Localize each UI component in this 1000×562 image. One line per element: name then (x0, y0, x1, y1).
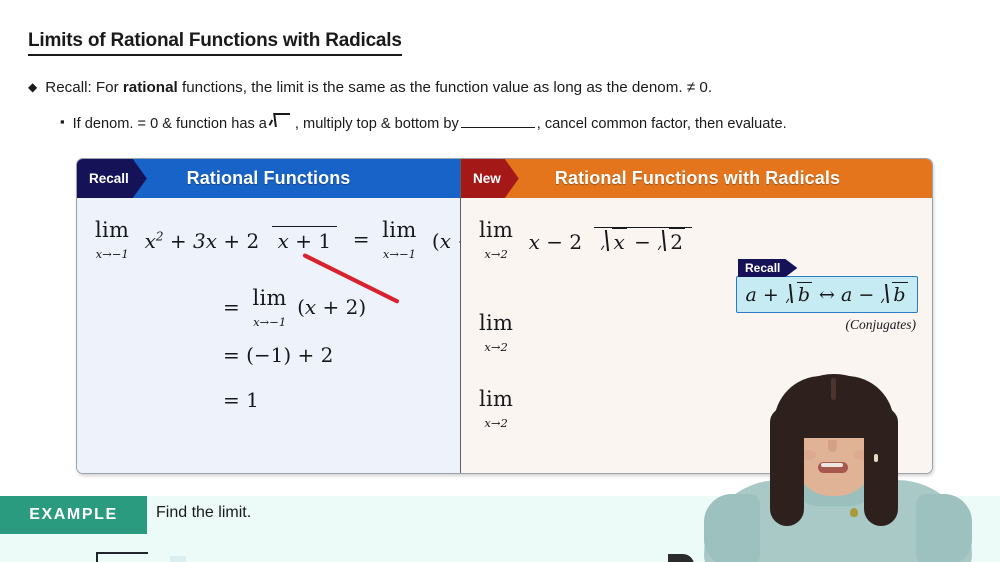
recall-callout-tag: Recall (738, 259, 797, 277)
recall-tag-badge: Recall (77, 159, 147, 198)
example-badge: EXAMPLE (0, 496, 147, 534)
equation-step-2: = lim x→−1 (x + 2) (223, 288, 366, 329)
recall-callout-formula: a + b ↔ a − b (736, 276, 918, 313)
limit-subscript-r1: x→2 (484, 247, 507, 261)
bullet-2-tail-text: , cancel common factor, then evaluate. (537, 116, 787, 132)
presenter-hair-strand-right (864, 408, 898, 526)
equals-sign-2: = (223, 295, 246, 319)
limit-operator-2: lim x→−1 (382, 220, 416, 261)
page-title: Limits of Rational Functions with Radica… (28, 30, 402, 56)
equation-step-4: = 1 (223, 388, 259, 412)
presenter-nose (828, 440, 837, 452)
limit-operator-1: lim x→−1 (95, 220, 129, 261)
sqrt-2: 2 (658, 228, 685, 254)
left-column-title: Rational Functions (187, 168, 351, 189)
fraction-1-denominator: x + 1 (272, 226, 337, 253)
bullet-1-emphasis: rational (123, 79, 178, 96)
example-prompt: Find the limit. (156, 504, 251, 522)
slide-canvas: Limits of Rational Functions with Radica… (0, 0, 1000, 562)
equation-step-3-text: = (−1) + 2 (223, 343, 333, 367)
sqrt-b-1: b (786, 282, 812, 306)
right-column-header: New Rational Functions with Radicals (461, 159, 933, 198)
presenter-sleeve-right (916, 494, 972, 562)
presenter-teeth (821, 463, 843, 467)
bullet-recall-rational: ◆ Recall: For rational functions, the li… (28, 79, 712, 96)
left-column-header: Recall Rational Functions (77, 159, 460, 198)
left-column-body: lim x→−1 x2 + 3x + 2 x + 1 = lim x→−1 (x… (77, 198, 460, 473)
limit-subscript-r2: x→2 (484, 340, 507, 354)
limit-operator-r2: lim x→2 (479, 313, 513, 354)
table-column-rational: Recall Rational Functions lim x→−1 x2 + … (77, 159, 460, 473)
limit-operator-3: lim x→−1 (252, 288, 286, 329)
limit-subscript-r3: x→2 (484, 416, 507, 430)
equation-radical-step-3: lim x→2 (479, 389, 513, 430)
radical-icon (270, 113, 292, 128)
limit-operator-r1: lim x→2 (479, 220, 513, 261)
sqrt-x: x (601, 228, 626, 254)
limit-subscript-2: x→−1 (383, 247, 416, 261)
presenter-earring (874, 454, 878, 462)
presenter-hair-strand-left (770, 408, 804, 526)
equation-step-3: = (−1) + 2 (223, 343, 333, 367)
fraction-radical: x − 2 x − 2 (523, 228, 692, 254)
fill-in-blank (461, 127, 535, 128)
square-bullet-icon: ▪ (60, 115, 65, 128)
limit-subscript-1: x→−1 (96, 247, 129, 261)
conjugates-caption: (Conjugates) (736, 317, 918, 333)
equation-step-4-text: = 1 (223, 388, 259, 412)
recall-conjugates-callout: Recall a + b ↔ a − b (Conjugates) (736, 259, 918, 333)
presenter-shirt-logo (850, 508, 858, 517)
equals-sign-1: = (346, 227, 375, 251)
fraction-1: x2 + 3x + 2 x + 1 (139, 229, 337, 253)
new-tag-badge: New (461, 159, 519, 198)
right-column-title: Rational Functions with Radicals (555, 168, 840, 189)
partial-expression-fragment (170, 556, 186, 562)
expression-step-2: (x + 2) (297, 295, 366, 319)
bullet-2-mid-text: , multiply top & bottom by (295, 116, 459, 132)
equation-radical-step-1: lim x→2 x − 2 x − 2 (479, 220, 695, 261)
presenter-video-overlay (668, 368, 1000, 562)
bullet-1-text: Recall: For rational functions, the limi… (45, 79, 712, 96)
equation-radical-step-2: lim x→2 (479, 313, 513, 354)
presenter-hair-part (831, 378, 836, 400)
bullet-2-pre-text: If denom. = 0 & function has a (73, 116, 267, 132)
presenter-hand (668, 554, 694, 562)
diamond-bullet-icon: ◆ (28, 81, 37, 93)
partial-radical-icon (96, 551, 154, 562)
limit-operator-r3: lim x→2 (479, 389, 513, 430)
fraction-1-numerator: x2 + 3x + 2 (139, 229, 266, 254)
fraction-radical-numerator: x − 2 (523, 230, 588, 255)
fraction-radical-denominator: x − 2 (594, 227, 692, 254)
bullet-radical-procedure: ▪ If denom. = 0 & function has a , multi… (60, 113, 787, 132)
limit-subscript-3: x→−1 (253, 315, 286, 329)
presenter-sleeve-left (704, 494, 760, 562)
sqrt-b-2: b (881, 282, 907, 306)
